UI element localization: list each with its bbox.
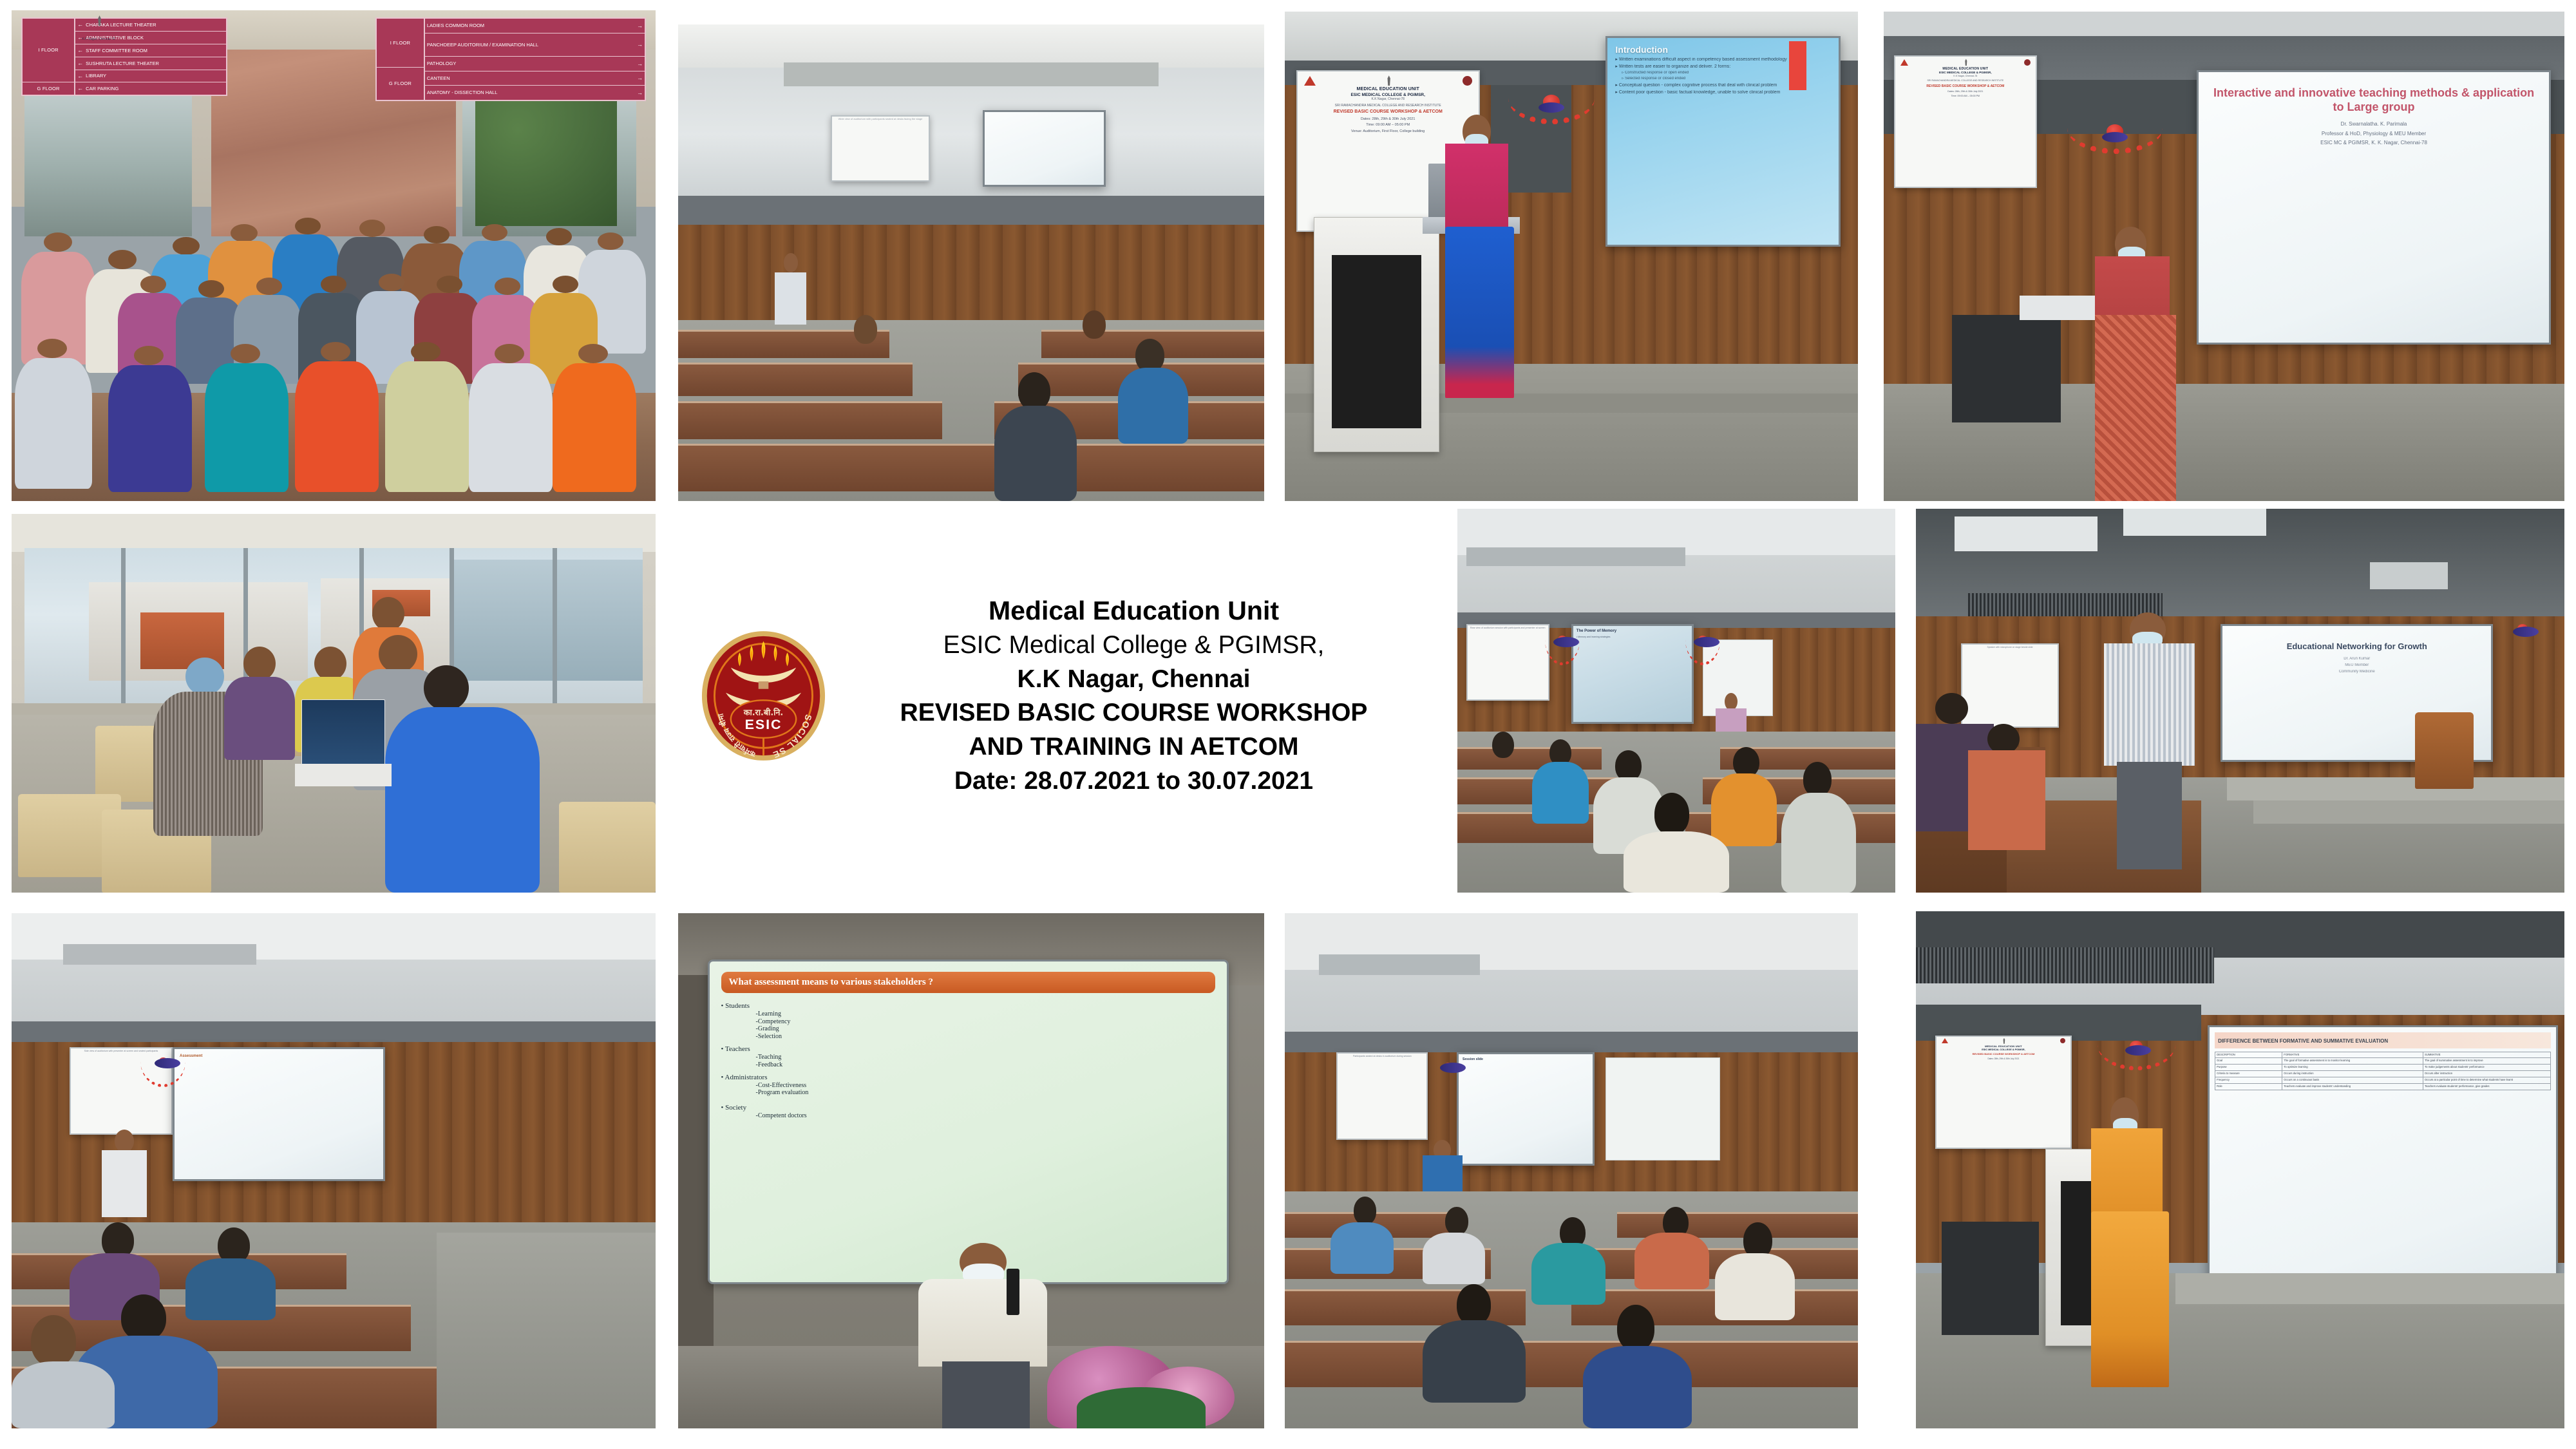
projection-screen: Assessment	[173, 1047, 385, 1181]
banner-line-7: Time: 09:00 AM – 05:00 PM	[1300, 123, 1476, 128]
banner-text: Rear view of auditorium session with par…	[1469, 627, 1547, 629]
slide-bullet-item: -Program evaluation	[756, 1089, 1216, 1097]
arrow-right-icon: →	[637, 90, 643, 96]
slide-bullet-group: • Society	[721, 1104, 1216, 1112]
table-cell: Occurs on a continuous basis	[2282, 1077, 2423, 1084]
slide-institution: ESIC MC & PGIMSR, K. K. Nagar, Chennai-7…	[2208, 140, 2540, 146]
floor-label: I FLOOR	[23, 19, 74, 81]
speaker-body	[918, 1279, 1047, 1367]
sign-row: PATHOLOGY →	[425, 57, 645, 71]
slide-bullet-item: -Competent doctors	[756, 1112, 1216, 1120]
title-line-3: K.K Nagar, Chennai	[848, 663, 1420, 697]
speaker-body	[2104, 643, 2195, 766]
triangle-logo-icon	[1900, 59, 1908, 66]
flower-decoration-icon	[1698, 636, 1707, 643]
laptop-keyboard	[295, 764, 392, 786]
title-card: का.रा.बी.नि. ESIC SOCIAL SECURITY कर्मचा…	[683, 515, 1420, 876]
speaker-legs	[2117, 762, 2182, 869]
projection-screen: Interactive and innovative teaching meth…	[2197, 70, 2551, 345]
floor-label: G FLOOR	[23, 82, 74, 95]
sign-label: SUSHRUTA LECTURE THEATER	[86, 61, 159, 66]
flower-decoration-icon	[1444, 1063, 1452, 1069]
slide-bullet-item: -Teaching	[756, 1054, 1216, 1061]
decorative-garland	[2493, 624, 2552, 670]
podium	[1314, 217, 1440, 452]
sign-label: PATHOLOGY	[427, 61, 457, 66]
sign-label: CHARAKA LECTURE THEATER	[86, 23, 156, 28]
banner-line-6: Dates: 28th, 29th & 30th July 2021	[1300, 117, 1476, 122]
projection-screen	[983, 110, 1106, 186]
banner-line-4: SRI RAMACHANDRA MEDICAL COLLEGE AND RESE…	[1300, 104, 1476, 108]
slide-bullet-item: -Grading	[756, 1025, 1216, 1033]
panel-speaker-interactive-teaching-methods: MEDICAL EDUCATION UNIT ESIC MEDICAL COLL…	[1884, 12, 2564, 501]
title-line-5: AND TRAINING IN AETCOM	[848, 730, 1420, 764]
slide-title: Session slide	[1463, 1058, 1589, 1062]
slide-title: Interactive and innovative teaching meth…	[2208, 86, 2540, 115]
banner-line-3: K.K Nagar, Chennai-78	[15, 37, 182, 41]
ashoka-emblem-icon	[1386, 75, 1392, 86]
ashoka-emblem-icon	[2002, 1038, 2006, 1044]
banner-line-3: K.K Nagar, Chennai-78	[1897, 75, 2034, 77]
panel-lecture-hall-wide-view: Wide view of auditorium with participant…	[678, 24, 1264, 501]
projection-screen: What assessment means to various stakeho…	[708, 960, 1229, 1284]
photo-collage: I FLOOR G FLOOR ← CHARAKA LECTURE THEATE…	[0, 0, 2576, 1449]
participant-head	[372, 597, 404, 631]
table-cell: Teachers evaluate and improve students' …	[2282, 1084, 2423, 1090]
table-header-cell: DESCRIPTION	[2215, 1052, 2282, 1058]
participant-head	[185, 658, 224, 696]
flower-decoration-icon	[2517, 624, 2528, 633]
institution-seal-icon	[1463, 76, 1472, 86]
participant-head	[243, 647, 276, 681]
arrow-left-icon: ←	[77, 48, 83, 53]
esic-abbrev: ESIC	[744, 717, 782, 732]
floor-label: G FLOOR	[377, 67, 424, 100]
signage-left: I FLOOR G FLOOR ← CHARAKA LECTURE THEATE…	[21, 17, 227, 96]
event-banner: Participants seated at desks in auditori…	[1336, 1052, 1428, 1140]
arrow-left-icon: ←	[77, 73, 83, 79]
participant-body	[224, 677, 295, 760]
slide-bullet-item: -Cost-Effectiveness	[756, 1082, 1216, 1090]
triangle-logo-icon	[1304, 76, 1316, 86]
institution-seal-icon	[2060, 1038, 2065, 1043]
banner-line-1: MEDICAL EDUCATION UNIT	[1300, 87, 1476, 92]
sign-row: ← CAR PARKING	[75, 82, 226, 95]
sign-label: STAFF COMMITTEE ROOM	[86, 48, 147, 53]
sign-row: ANATOMY - DISSECTION HALL →	[425, 86, 645, 100]
banner-line-6: Dates: 28th, 29th & 30th July 2021	[1938, 1058, 2069, 1061]
triangle-logo-icon	[1942, 1038, 1948, 1043]
ashoka-emblem-icon	[1964, 59, 1968, 66]
signage-left-floors: I FLOOR G FLOOR	[23, 19, 75, 95]
slide-bullet-item: -Learning	[756, 1010, 1216, 1018]
sign-row: LADIES COMMON ROOM →	[425, 19, 645, 33]
table-header-row: DESCRIPTION FORMATIVE SUMMATIVE	[2215, 1052, 2551, 1058]
title-text-block: Medical Education Unit ESIC Medical Coll…	[844, 593, 1420, 799]
esic-logo: का.रा.बी.नि. ESIC SOCIAL SECURITY कर्मचा…	[701, 630, 826, 762]
slide-bullet: • Memory and learning strategies	[1577, 636, 1689, 638]
arrow-right-icon: →	[637, 75, 643, 81]
table-cell: Purpose	[2215, 1065, 2282, 1071]
speaker-saree	[2091, 1211, 2169, 1387]
panel-speaker-educational-networking: Speaker with microphone on stage beside …	[1916, 509, 2564, 893]
banner-line-5: REVISED BASIC COURSE WORKSHOP & AETCOM	[1300, 109, 1476, 115]
sign-label: CANTEEN	[427, 76, 450, 81]
sign-label: PANCHDEEP AUDITORIUM / EXAMINATION HALL	[427, 43, 538, 48]
flower-decoration-icon	[2130, 1041, 2143, 1052]
arrow-left-icon: ←	[77, 86, 83, 91]
participant-body	[385, 707, 540, 893]
slide-bullet: ▸ Content poor question - basic factual …	[1615, 90, 1831, 95]
table-header-cell: FORMATIVE	[2282, 1052, 2423, 1058]
slide-bullet-group: • Students	[721, 1002, 1216, 1010]
slide-designation: Professor & HoD, Physiology & MEU Member	[2208, 131, 2540, 137]
panel-speaker-at-podium-introduction: MEDICAL EDUCATION UNIT ESIC MEDICAL COLL…	[1285, 12, 1858, 501]
flower-decoration-icon	[159, 1057, 167, 1065]
slide-bullet-item: -Selection	[756, 1033, 1216, 1041]
sign-row: CANTEEN →	[425, 71, 645, 86]
participant-head	[424, 665, 469, 711]
arrow-left-icon: ←	[77, 61, 83, 66]
panel-auditorium-session-rear-view: Rear view of auditorium session with par…	[1457, 509, 1895, 893]
banner-line-4: SRI RAMACHANDRA MEDICAL COLLEGE AND RESE…	[1897, 79, 2034, 82]
presenter-head	[115, 1130, 134, 1153]
participant-head	[1987, 724, 2020, 755]
arrow-left-icon: ←	[77, 22, 83, 28]
arrow-right-icon: →	[637, 23, 643, 29]
table-cell: The goal of formative assessment is to m…	[2282, 1058, 2423, 1065]
projection-screen: DIFFERENCE BETWEEN FORMATIVE AND SUMMATI…	[2208, 1025, 2558, 1305]
banner-text: Side view of auditorium with presenter a…	[72, 1050, 170, 1052]
slide-title-band: DIFFERENCE BETWEEN FORMATIVE AND SUMMATI…	[2215, 1032, 2551, 1048]
speaker-saree	[1445, 227, 1514, 398]
slide-title: The Power of Memory	[1577, 629, 1689, 634]
decorative-garland	[1545, 636, 1580, 674]
banner-emblems	[1897, 59, 2034, 67]
participant-head	[1935, 693, 1967, 724]
table-cell: Teachers evaluate students' performance,…	[2423, 1084, 2551, 1090]
slide-title: Educational Networking for Growth	[2231, 641, 2482, 651]
table-cell: Occurs after instruction	[2423, 1071, 2551, 1077]
title-line-6: Date: 28.07.2021 to 30.07.2021	[848, 764, 1420, 799]
slide-bullet-item: -Competency	[756, 1018, 1216, 1026]
sign-row: ← SUSHRUTA LECTURE THEATER	[75, 57, 226, 70]
table-cell: Goal	[2215, 1058, 2282, 1065]
panel-auditorium-participants-seated: Participants seated at desks in auditori…	[1285, 913, 1858, 1428]
logo-wrap: का.रा.बी.नि. ESIC SOCIAL SECURITY कर्मचा…	[683, 630, 844, 762]
title-line-2: ESIC Medical College & PGIMSR,	[848, 629, 1420, 663]
table-row: Role Teachers evaluate and improve stude…	[2215, 1084, 2551, 1090]
sign-label: ANATOMY - DISSECTION HALL	[427, 90, 498, 95]
table-cell: Occurs during instruction	[2282, 1071, 2423, 1077]
participant-head	[314, 647, 346, 681]
title-line-1: Medical Education Unit	[848, 593, 1420, 629]
projection-screen: The Power of Memory • Memory and learnin…	[1571, 624, 1694, 724]
table-cell: Occurs at a particular point of time to …	[2423, 1077, 2551, 1084]
sign-row: ← STAFF COMMITTEE ROOM	[75, 44, 226, 57]
slide-presenter-line: MEU Member	[2231, 663, 2482, 668]
panel-small-group-activity-laptop	[12, 514, 656, 893]
decorative-garland	[1508, 95, 1595, 163]
sign-label: LADIES COMMON ROOM	[427, 23, 484, 28]
banner-line-6: Dates: 28th, 29th & 30th July 2021	[1897, 90, 2034, 93]
esic-logo-svg: का.रा.बी.नि. ESIC SOCIAL SECURITY कर्मचा…	[701, 630, 826, 762]
event-banner: Speaker with microphone on stage beside …	[1961, 643, 2058, 728]
sign-row: ← LIBRARY	[75, 70, 226, 83]
panel-speaker-formative-summative-evaluation: MEDICAL EDUCATION UNIT ESIC MEDICAL COLL…	[1916, 911, 2564, 1428]
panel-auditorium-session-side-view: Side view of auditorium with presenter a…	[12, 913, 656, 1428]
arrow-right-icon: →	[637, 42, 643, 48]
decorative-garland	[2067, 124, 2163, 193]
slide-presenter: Dr. Swarnalatha. K. Parimala	[2208, 121, 2540, 127]
banner-text: Participants seated at desks in auditori…	[1339, 1055, 1425, 1057]
banner-text: Speaker with microphone on stage beside …	[1964, 646, 2056, 649]
table-header-cell: SUMMATIVE	[2423, 1052, 2551, 1058]
banner-emblems	[1300, 75, 1476, 87]
title-line-4: REVISED BASIC COURSE WORKSHOP	[848, 696, 1420, 730]
table-row: Criteria to measure Occurs during instru…	[2215, 1071, 2551, 1077]
participant-body	[1968, 750, 2046, 850]
panel-speaker-assessment-stakeholders: What assessment means to various stakeho…	[678, 913, 1264, 1428]
banner-line-7: Time: 09:00 AM – 05:00 PM	[1897, 95, 2034, 97]
presenter-body	[102, 1150, 147, 1217]
table-row: Purpose To optimize learning To make jud…	[2215, 1065, 2551, 1071]
event-banner: MEDICAL EDUCATION UNIT ESIC MEDICAL COLL…	[1894, 55, 2037, 187]
panel-group-photo-participants: I FLOOR G FLOOR ← CHARAKA LECTURE THEATE…	[12, 10, 656, 501]
slide-presenter-line: Dr. Arun Kumar	[2231, 657, 2482, 661]
projection-screen: Session slide	[1457, 1052, 1595, 1166]
flower-decoration-icon	[1543, 95, 1560, 109]
participant-head	[379, 635, 417, 673]
table-cell: Frequency	[2215, 1077, 2282, 1084]
banner-line-2: ESIC MEDICAL COLLEGE & PGIMSR,	[1300, 93, 1476, 98]
table-cell: Criteria to measure	[2215, 1071, 2282, 1077]
banner-line-5: REVISED BASIC COURSE WORKSHOP & AETCOM	[1897, 84, 2034, 88]
decorative-garland	[1685, 636, 1720, 674]
chair	[2415, 712, 2474, 789]
table-row: Frequency Occurs on a continuous basis O…	[2215, 1077, 2551, 1084]
table-cell: Role	[2215, 1084, 2282, 1090]
signage-right-floors: I FLOOR G FLOOR	[377, 19, 425, 100]
table-cell: To optimize learning	[2282, 1065, 2423, 1071]
table-cell: To make judgements about students' perfo…	[2423, 1065, 2551, 1071]
arrow-right-icon: →	[637, 61, 643, 67]
slide-bullet-group: • Teachers	[721, 1045, 1216, 1054]
speaker-legs	[942, 1361, 1030, 1428]
sign-label: LIBRARY	[86, 73, 106, 79]
decorative-garland	[140, 1057, 185, 1109]
slide-bullet-group: • Administrators	[721, 1074, 1216, 1082]
decorative-garland	[1428, 1063, 1468, 1109]
table-cell: The goal of summative assessment is to i…	[2423, 1058, 2551, 1065]
signage-right-rows: LADIES COMMON ROOM → PANCHDEEP AUDITORIU…	[425, 19, 645, 100]
banner-line-3: K.K Nagar, Chennai-78	[1300, 97, 1476, 101]
floor-label: I FLOOR	[377, 19, 424, 67]
table-row: Goal The goal of formative assessment is…	[2215, 1058, 2551, 1065]
signage-right: I FLOOR G FLOOR LADIES COMMON ROOM → PAN…	[375, 17, 646, 101]
event-banner: MEDICAL EDUCATION UNIT ESIC MEDICAL COLL…	[1935, 1036, 2071, 1150]
banner-line-2: ESIC MEDICAL COLLEGE & PGIMSR,	[1938, 1048, 2069, 1052]
event-banner: Wide view of auditorium with participant…	[831, 115, 931, 182]
sign-label: CAR PARKING	[86, 86, 118, 91]
banner-line-8: Venue: Auditorium, First Floor, College …	[1300, 129, 1476, 134]
slide-presenter-line: Community Medicine	[2231, 670, 2482, 674]
decorative-garland	[2098, 1041, 2175, 1113]
slide-title-banner: What assessment means to various stakeho…	[721, 972, 1216, 993]
event-banner: Rear view of auditorium session with par…	[1466, 624, 1549, 701]
signage-left-rows: ← CHARAKA LECTURE THEATER ← ADMINISTRATI…	[75, 19, 226, 95]
slide-bullet-item: -Feedback	[756, 1061, 1216, 1069]
laptop	[301, 699, 385, 768]
esic-hindi-abbrev: का.रा.बी.नि.	[743, 707, 783, 717]
sign-row: ← CHARAKA LECTURE THEATER	[75, 19, 226, 32]
flower-decoration-icon	[1558, 636, 1567, 643]
flower-decoration-icon	[2107, 124, 2123, 138]
institution-seal-icon	[2024, 59, 2031, 66]
speaker-saree	[2095, 315, 2177, 501]
banner-text: Wide view of auditorium with participant…	[833, 118, 928, 121]
slide-title: DIFFERENCE BETWEEN FORMATIVE AND SUMMATI…	[2218, 1038, 2388, 1044]
chair	[559, 802, 656, 893]
banner-line-5: REVISED BASIC COURSE WORKSHOP & AETCOM	[1938, 1053, 2069, 1056]
slide-title: Assessment	[180, 1054, 378, 1059]
slide-title: What assessment means to various stakeho…	[729, 977, 934, 987]
sign-row: PANCHDEEP AUDITORIUM / EXAMINATION HALL …	[425, 33, 645, 57]
slide-table: DESCRIPTION FORMATIVE SUMMATIVE Goal The…	[2215, 1052, 2551, 1091]
